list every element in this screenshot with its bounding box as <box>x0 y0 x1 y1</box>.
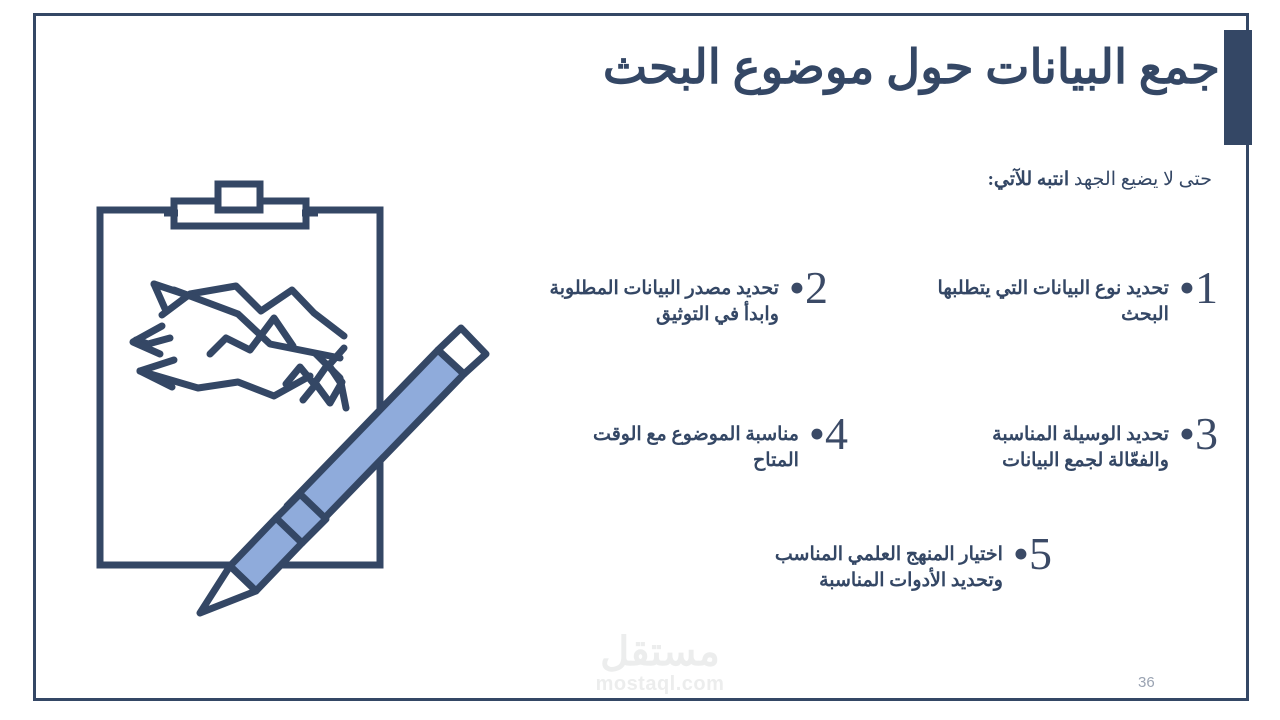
clipboard-with-pen-illustration <box>78 168 518 628</box>
list-item-2-number: 2• <box>789 266 828 310</box>
list-item-4-number: 4• <box>809 412 848 456</box>
list-item-3-label: تحديد الوسيلة المناسبة والفعّالة لجمع ال… <box>928 418 1179 473</box>
list-item-4-label: مناسبة الموضوع مع الوقت المتاح <box>558 418 809 473</box>
list-item-5-number: 5• <box>1013 532 1052 576</box>
bullet-dot-icon: • <box>1179 262 1195 313</box>
list-item-3-numeral: 3 <box>1195 408 1218 459</box>
list-item-1-number: 1• <box>1179 266 1218 310</box>
list-item-5-numeral: 5 <box>1029 528 1052 579</box>
list-item-1-label: تحديد نوع البيانات التي يتطلبها البحث <box>928 272 1179 327</box>
list-item-5-label: اختيار المنهج العلمي المناسب وتحديد الأد… <box>722 538 1013 593</box>
list-item-4: 4• مناسبة الموضوع مع الوقت المتاح <box>558 418 848 473</box>
list-item-3: 3• تحديد الوسيلة المناسبة والفعّالة لجمع… <box>928 418 1218 473</box>
clipboard-clip <box>174 184 306 226</box>
list-item-2-label: تحديد مصدر البيانات المطلوبة وابدأ في ال… <box>528 272 789 327</box>
page-number: 36 <box>1138 674 1155 691</box>
list-item-5: 5• اختيار المنهج العلمي المناسب وتحديد ا… <box>722 538 1052 593</box>
list-item-2-numeral: 2 <box>805 262 828 313</box>
bullet-dot-icon: • <box>789 262 805 313</box>
bullet-dot-icon: • <box>1179 408 1195 459</box>
watermark-url-text: mostaql.com <box>545 674 775 694</box>
bullet-dot-icon: • <box>809 408 825 459</box>
list-item-1: 1• تحديد نوع البيانات التي يتطلبها البحث <box>928 272 1218 327</box>
list-item-4-numeral: 4 <box>825 408 848 459</box>
bullet-dot-icon: • <box>1013 528 1029 579</box>
page-title: جمع البيانات حول موضوع البحث <box>520 42 1220 95</box>
watermark: مستقل mostaql.com <box>545 632 775 698</box>
slide-canvas: جمع البيانات حول موضوع البحث حتى لا يضيع… <box>0 0 1280 720</box>
zigzag-arrows-chart <box>133 284 346 408</box>
subtitle: حتى لا يضيع الجهد انتبه للآتي: <box>552 168 1212 193</box>
watermark-logo-text: مستقل <box>545 632 775 672</box>
accent-bar-decoration <box>1224 30 1252 145</box>
subtitle-strong-part: انتبه للآتي: <box>988 169 1070 190</box>
pen <box>200 328 486 613</box>
subtitle-light-part: حتى لا يضيع الجهد <box>1069 169 1212 190</box>
list-item-2: 2• تحديد مصدر البيانات المطلوبة وابدأ في… <box>528 272 828 327</box>
list-item-1-numeral: 1 <box>1195 262 1218 313</box>
list-item-3-number: 3• <box>1179 412 1218 456</box>
